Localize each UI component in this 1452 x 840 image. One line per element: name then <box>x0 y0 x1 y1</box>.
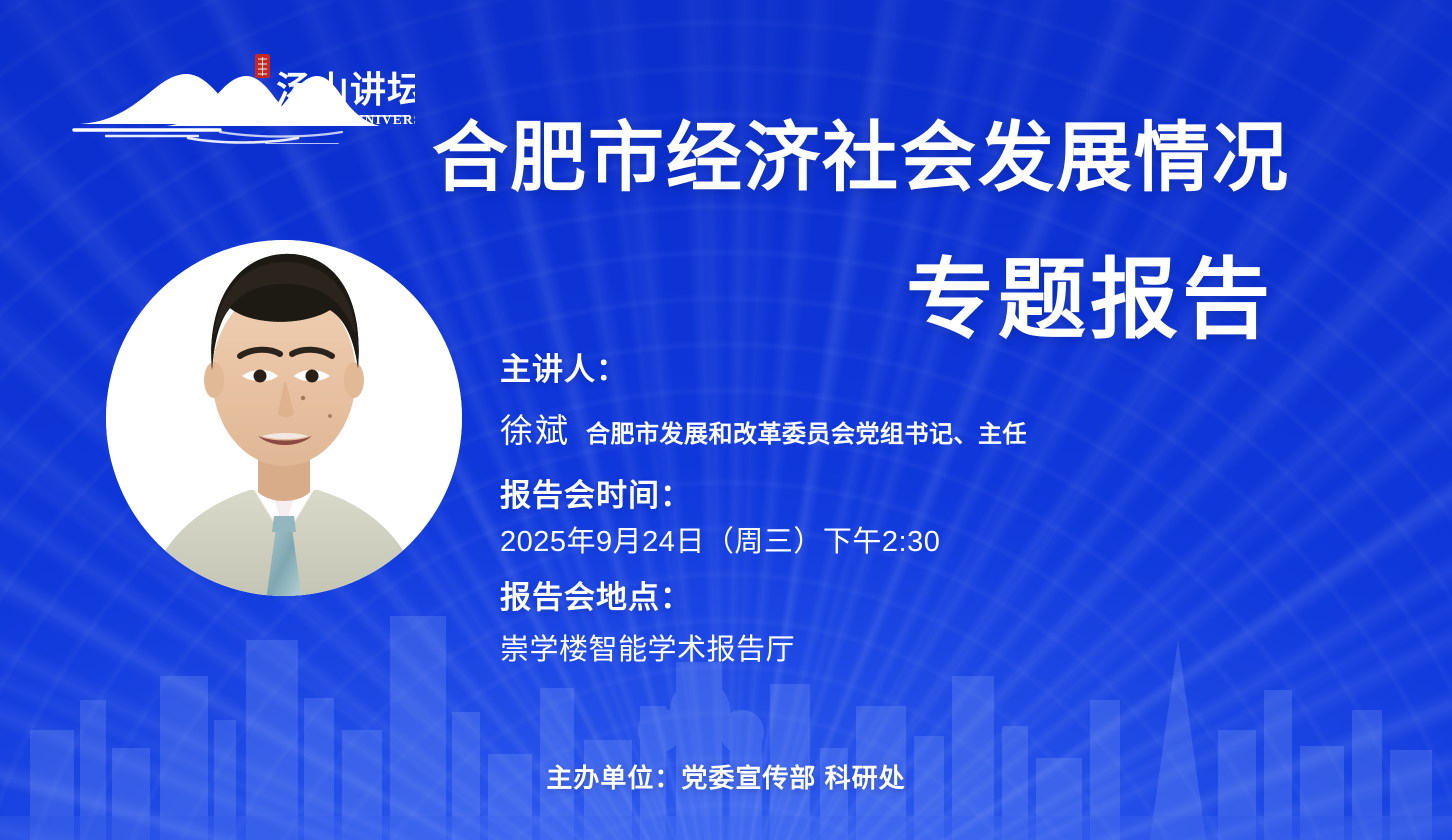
venue-value: 崇学楼智能学术报告厅 <box>500 626 1240 674</box>
poster-title-line2: 专题报告 <box>906 252 1274 348</box>
organizer-footer: 主办单位：党委宣传部 科研处 <box>0 758 1452 795</box>
event-poster: 汤山讲坛 CHAOHU UNIVERSITY 合肥市经济社会发展情况 专题报告 <box>0 0 1452 840</box>
logo-chinese-text: 汤山讲坛 <box>276 70 415 111</box>
venue-label: 报告会地点： <box>500 576 1240 620</box>
chaohu-university-logo: 汤山讲坛 CHAOHU UNIVERSITY <box>70 52 415 144</box>
portrait-photo <box>106 240 462 596</box>
poster-title-line1: 合肥市经济社会发展情况 <box>432 117 1290 201</box>
logo-english-text: CHAOHU UNIVERSITY <box>282 112 415 127</box>
speaker-label: 主讲人： <box>500 348 1240 392</box>
portrait-disc <box>106 240 462 596</box>
speaker-position: 合肥市发展和改革委员会党组书记、主任 <box>586 414 1027 449</box>
event-details: 主讲人： 徐斌 合肥市发展和改革委员会党组书记、主任 报告会时间： 2025年9… <box>500 348 1240 674</box>
time-label: 报告会时间： <box>500 474 1240 518</box>
speaker-portrait <box>106 240 462 596</box>
time-value: 2025年9月24日（周三）下午2:30 <box>500 518 1240 566</box>
speaker-name: 徐斌 <box>500 404 570 452</box>
seal-icon <box>255 54 270 78</box>
speaker-row: 徐斌 合肥市发展和改革委员会党组书记、主任 <box>500 404 1240 452</box>
